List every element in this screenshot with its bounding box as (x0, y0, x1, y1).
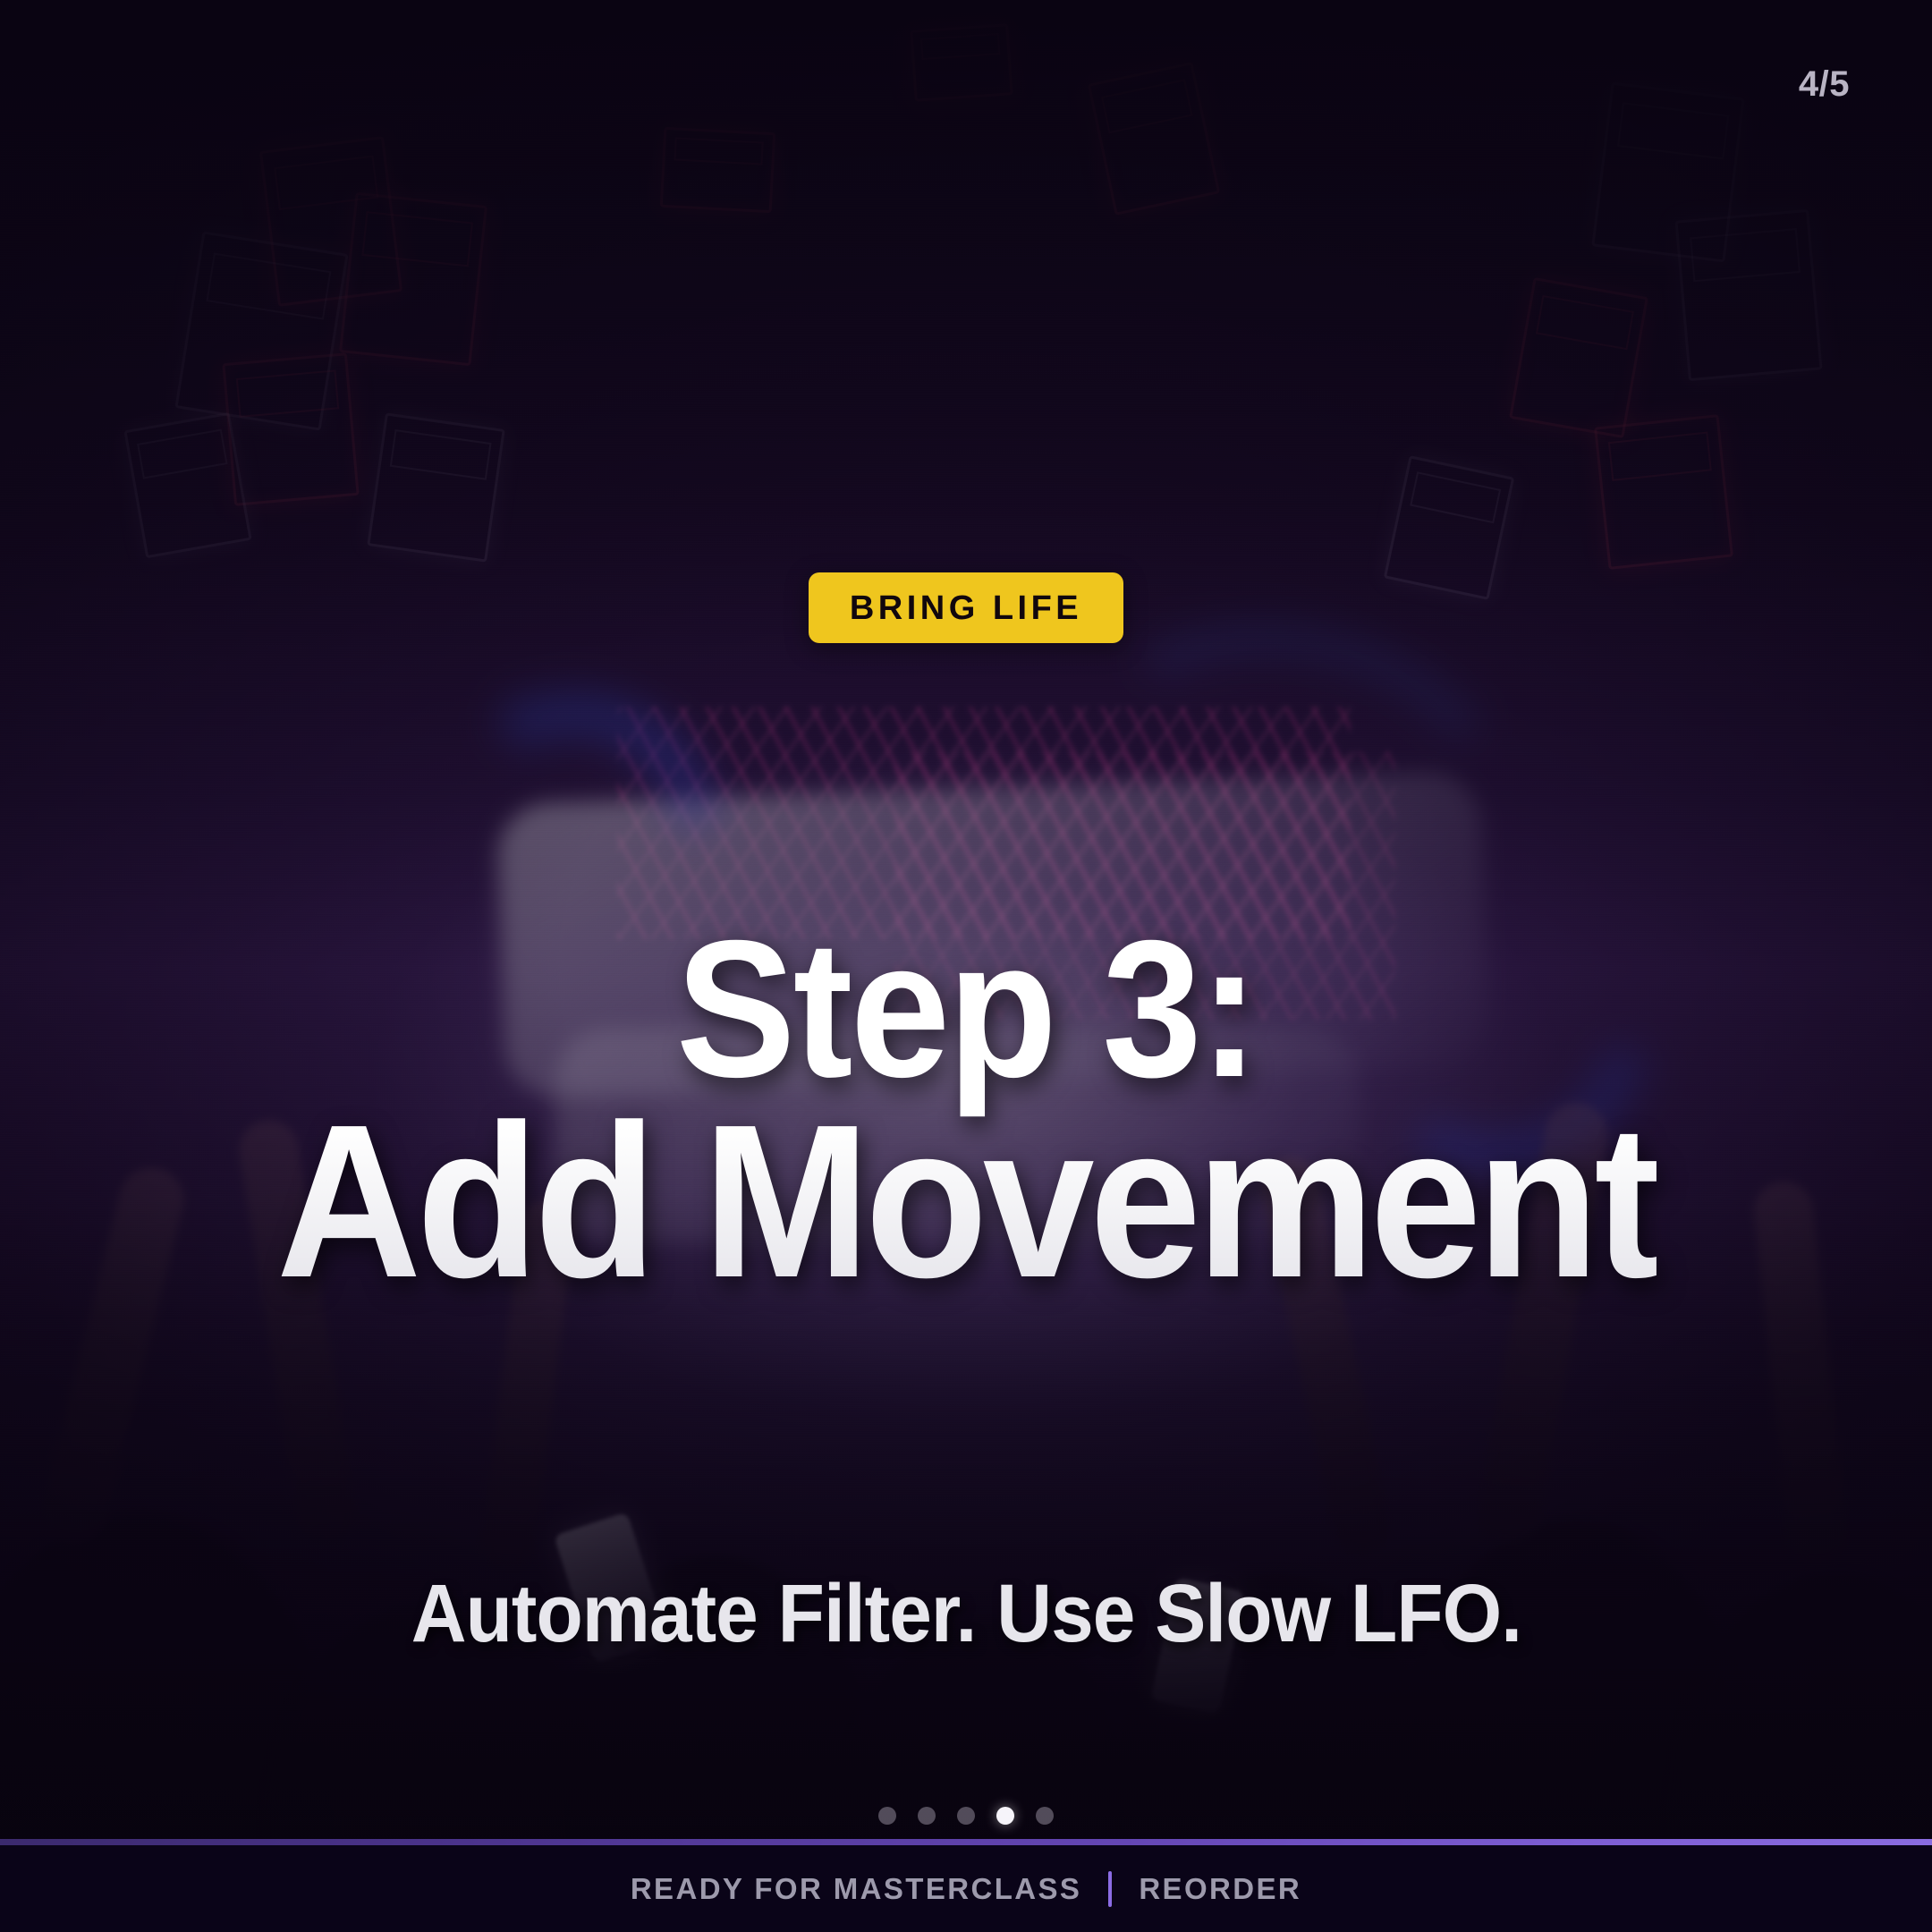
pagination-dot-5[interactable] (1036, 1807, 1054, 1825)
pagination-dot-1[interactable] (878, 1807, 896, 1825)
slide-root: 4/5 BRING LIFE Step 3: Add Movement Auto… (0, 0, 1932, 1932)
slide-content: 4/5 BRING LIFE Step 3: Add Movement Auto… (0, 0, 1932, 1932)
status-badge: READY FOR MASTERCLASS (631, 1872, 1082, 1906)
footer-separator (1108, 1871, 1112, 1907)
reorder-button[interactable]: REORDER (1139, 1872, 1301, 1906)
pagination-dot-4[interactable] (996, 1807, 1014, 1825)
page-counter: 4/5 (1799, 64, 1850, 105)
pagination-dots[interactable] (0, 1807, 1932, 1825)
headline-line-2: Add Movement (276, 1100, 1657, 1303)
accent-divider (0, 1839, 1932, 1845)
pagination-dot-3[interactable] (957, 1807, 975, 1825)
center-stack: BRING LIFE Step 3: Add Movement Automate… (0, 572, 1932, 1657)
page-subtitle: Automate Filter. Use Slow LFO. (411, 1571, 1521, 1657)
category-badge: BRING LIFE (809, 572, 1123, 643)
pagination-dot-2[interactable] (918, 1807, 936, 1825)
footer-bar: READY FOR MASTERCLASS REORDER (0, 1845, 1932, 1932)
page-title: Step 3: Add Movement (276, 738, 1657, 1485)
